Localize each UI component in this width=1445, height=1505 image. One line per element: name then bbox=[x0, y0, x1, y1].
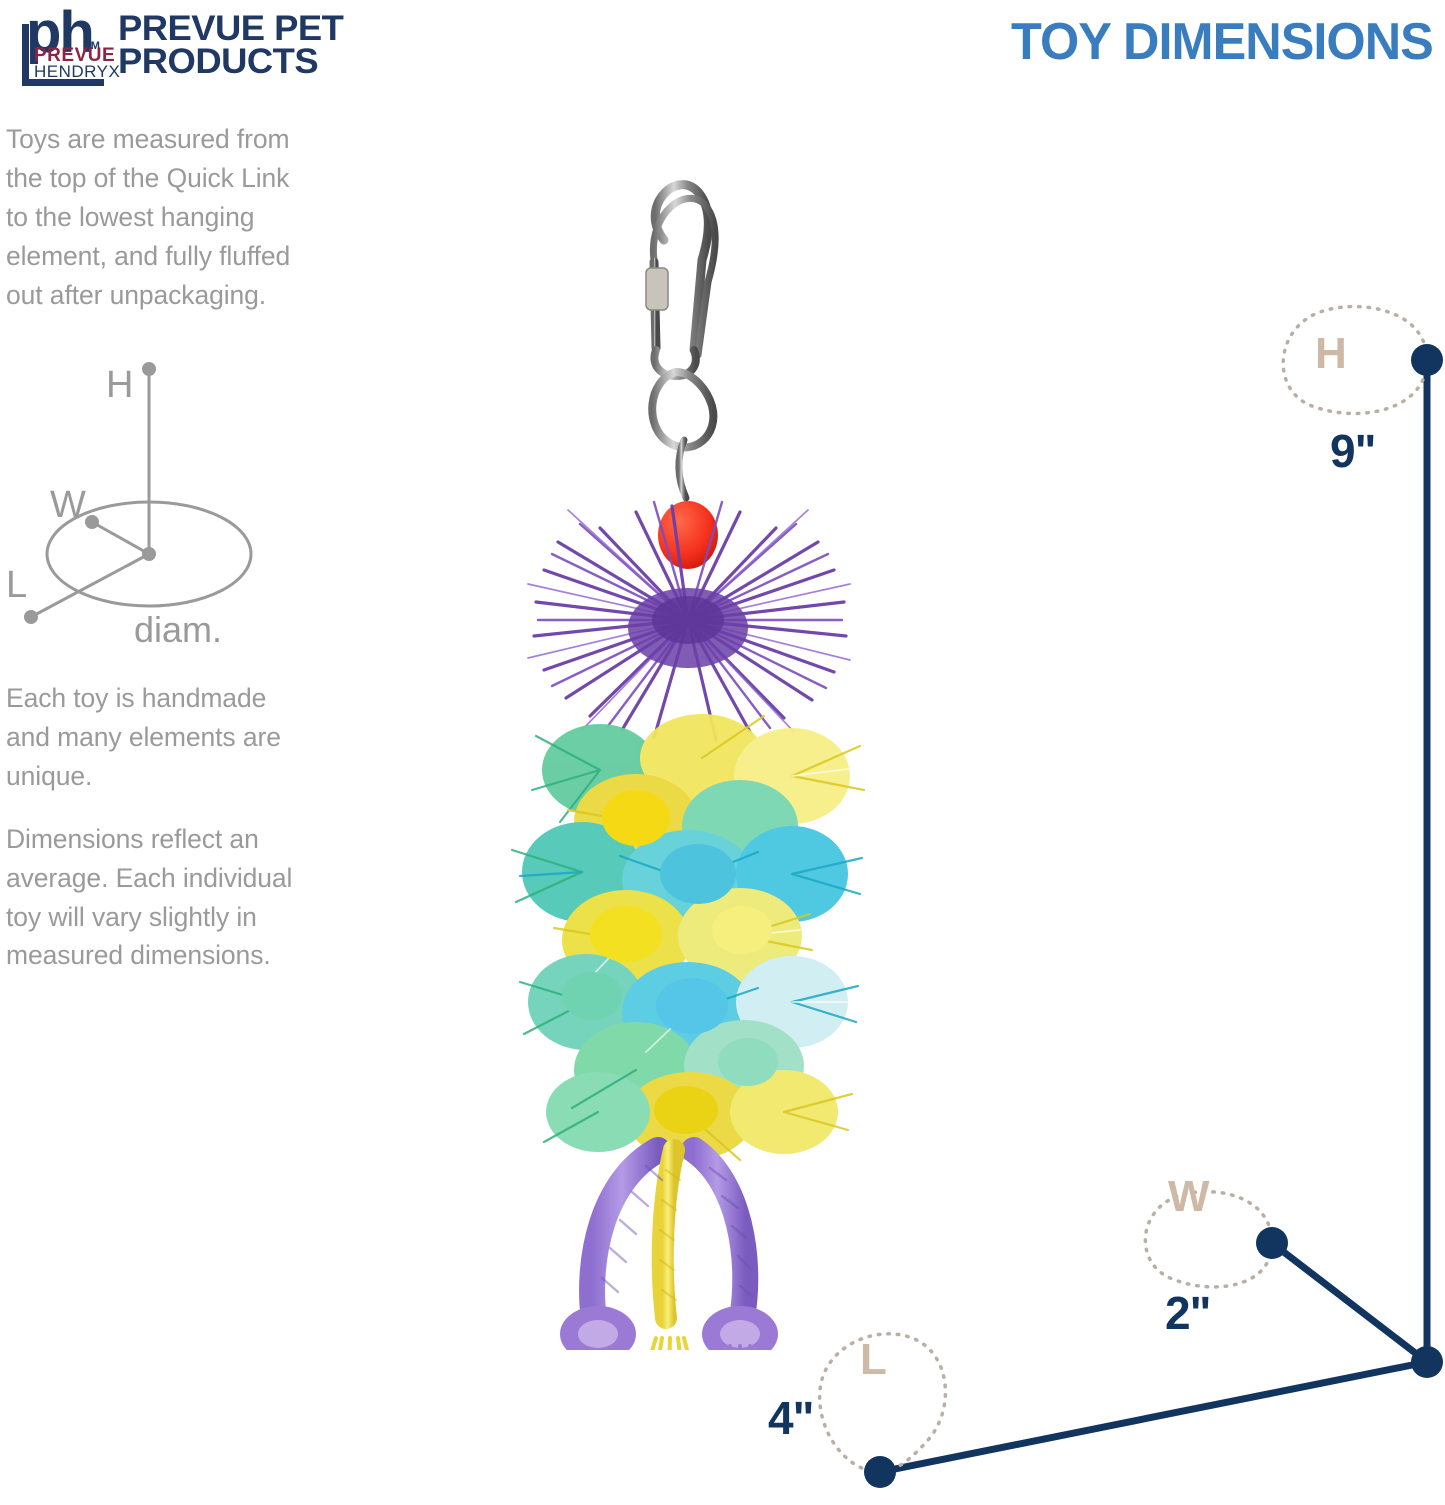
width-dimension-value: 2" bbox=[1165, 1290, 1210, 1336]
hwl-label-l: L bbox=[6, 564, 27, 606]
left-info-column: Toys are measured from the top of the Qu… bbox=[6, 120, 296, 999]
width-axis-line bbox=[1272, 1243, 1427, 1362]
height-marker-pin bbox=[1283, 307, 1443, 414]
page-header: ph TM PREVUE HENDRYX PREVUE PET PRODUCTS… bbox=[0, 0, 1445, 95]
measurement-note-paragraph: Toys are measured from the top of the Qu… bbox=[6, 120, 296, 315]
l-axis-endpoint-dot bbox=[24, 610, 38, 624]
length-axis-line bbox=[880, 1362, 1427, 1472]
page-title: TOY DIMENSIONS bbox=[1011, 12, 1433, 72]
w-axis-line bbox=[92, 522, 149, 554]
height-pin-outline bbox=[1283, 307, 1427, 414]
hwl-label-diam: diam. bbox=[134, 609, 222, 649]
width-marker-pin bbox=[1145, 1192, 1288, 1287]
hwl-label-w: W bbox=[50, 484, 86, 526]
average-note-paragraph: Dimensions reflect an average. Each indi… bbox=[6, 820, 296, 976]
hwl-label-h: H bbox=[106, 364, 133, 406]
length-dimension-value: 4" bbox=[768, 1395, 813, 1441]
brand-name-text: PREVUE PET PRODUCTS bbox=[118, 8, 343, 79]
brand-logo: ph TM PREVUE HENDRYX PREVUE PET PRODUCTS bbox=[18, 8, 335, 86]
h-axis-endpoint-dot bbox=[142, 362, 156, 376]
hwl-schematic-diagram: H W L diam. bbox=[6, 339, 286, 649]
dimension-diagram: H W L 9" 2" 4" bbox=[700, 290, 1445, 1500]
length-axis-endpoint-dot bbox=[864, 1456, 896, 1488]
logo-hendryx-text: HENDRYX bbox=[34, 63, 120, 80]
origin-dot bbox=[142, 547, 156, 561]
hwl-schematic-svg: H W L diam. bbox=[6, 339, 286, 649]
diagram-origin-dot bbox=[1411, 1346, 1443, 1378]
ph-logo-icon: ph TM PREVUE HENDRYX bbox=[18, 8, 104, 86]
height-axis-endpoint-dot bbox=[1411, 344, 1443, 376]
purple-rope-left bbox=[592, 1150, 658, 1320]
width-axis-endpoint-dot bbox=[1256, 1227, 1288, 1259]
handmade-note-paragraph: Each toy is handmade and many elements a… bbox=[6, 679, 296, 796]
w-axis-endpoint-dot bbox=[85, 515, 99, 529]
height-pin-letter: H bbox=[1315, 332, 1347, 376]
height-dimension-value: 9" bbox=[1330, 428, 1375, 474]
width-pin-letter: W bbox=[1168, 1175, 1210, 1219]
length-pin-letter: L bbox=[860, 1338, 887, 1382]
quick-link-sleeve bbox=[646, 268, 668, 310]
